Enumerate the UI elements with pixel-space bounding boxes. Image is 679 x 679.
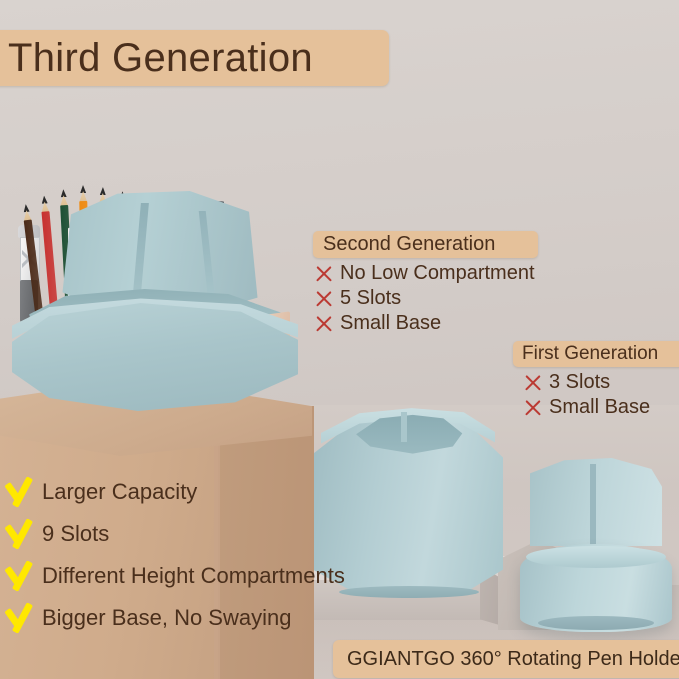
first-generation-label: First Generation (522, 343, 658, 365)
product-first-generation (520, 458, 672, 638)
first-generation-banner: First Generation (513, 341, 679, 367)
feature-label: Different Height Compartments (42, 563, 345, 589)
feature-label: Larger Capacity (42, 479, 197, 505)
third-gen-octagonal-base (12, 303, 298, 411)
feature-label: No Low Compartment (340, 262, 535, 285)
first-gen-rotating-foot (538, 616, 654, 630)
product-third-generation (8, 185, 304, 425)
feature-row: Small Base (313, 312, 535, 335)
feature-label: 5 Slots (340, 287, 401, 310)
title-banner: Third Generation (0, 30, 389, 86)
feature-row: 5 Slots (313, 287, 535, 310)
x-mark-icon (522, 397, 544, 419)
feature-row: 9 Slots (8, 516, 345, 552)
feature-label: 3 Slots (549, 371, 610, 394)
third-generation-feature-list: Larger Capacity9 SlotsDifferent Height C… (8, 474, 345, 642)
feature-row: Different Height Compartments (8, 558, 345, 594)
feature-row: Larger Capacity (8, 474, 345, 510)
feature-row: Small Base (522, 396, 650, 419)
second-gen-rotating-foot (339, 586, 479, 598)
pencil-tip (23, 204, 30, 213)
first-generation-list: 3 SlotsSmall Base (522, 371, 650, 421)
feature-label: Bigger Base, No Swaying (42, 605, 291, 631)
x-mark-icon (313, 263, 335, 285)
feature-row: 3 Slots (522, 371, 650, 394)
page-title: Third Generation (8, 36, 313, 81)
x-mark-icon (522, 372, 544, 394)
second-generation-banner: Second Generation (313, 231, 538, 258)
check-mark-icon (8, 474, 38, 510)
feature-row: Bigger Base, No Swaying (8, 600, 345, 636)
check-mark-icon (8, 516, 38, 552)
check-mark-icon (8, 600, 38, 636)
infographic-canvas: Third Generation Second Generation No Lo… (0, 0, 679, 679)
check-mark-icon (8, 558, 38, 594)
feature-label: 9 Slots (42, 521, 109, 547)
second-gen-divider (401, 412, 407, 442)
product-caption-banner: GGIANTGO 360° Rotating Pen Holder (333, 640, 679, 678)
second-generation-label: Second Generation (323, 233, 495, 256)
feature-label: Small Base (340, 312, 441, 335)
feature-label: Small Base (549, 396, 650, 419)
second-generation-list: No Low Compartment5 SlotsSmall Base (313, 262, 535, 337)
x-mark-icon (313, 288, 335, 310)
first-gen-front-lip (526, 546, 666, 568)
x-mark-icon (313, 313, 335, 335)
product-caption: GGIANTGO 360° Rotating Pen Holder (347, 648, 679, 671)
feature-row: No Low Compartment (313, 262, 535, 285)
